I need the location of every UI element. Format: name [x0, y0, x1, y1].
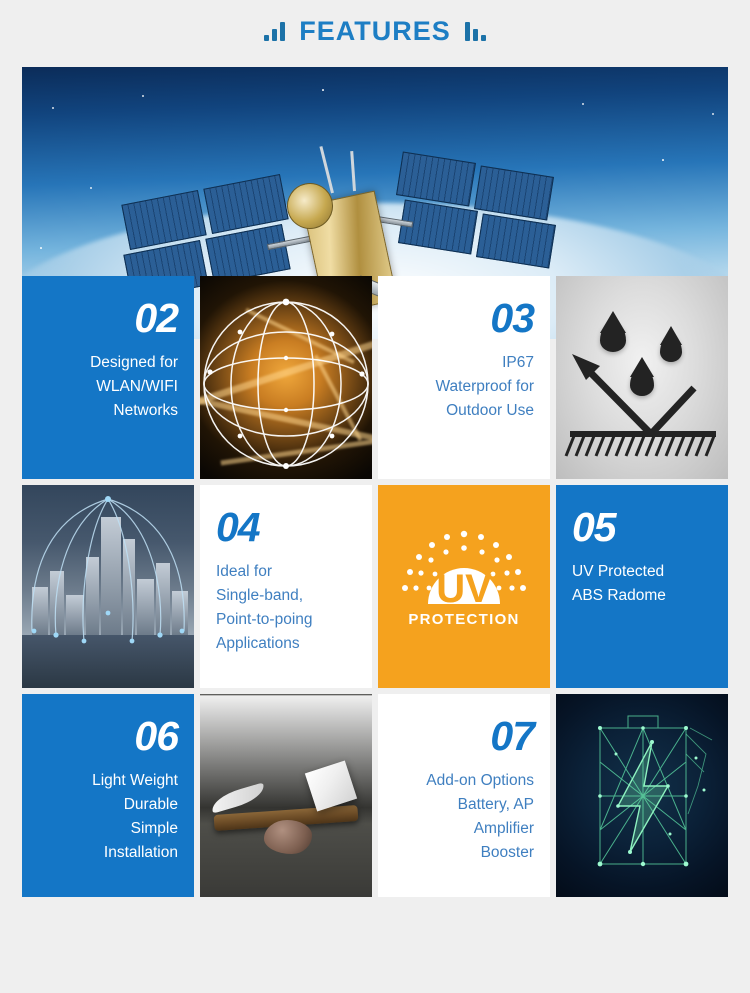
uv-label: UV — [436, 567, 492, 611]
feature-card-06[interactable]: 06 Light Weight Durable Simple Installat… — [22, 694, 194, 897]
feature-number: 03 — [490, 298, 534, 339]
antenna-box — [305, 760, 357, 811]
uv-protection-icon: UV PROTECTION — [389, 512, 539, 662]
feature-card-03[interactable]: 03 IP67 Waterproof for Outdoor Use — [378, 276, 550, 479]
feature-number: 05 — [572, 507, 616, 548]
feature-description: Add-on Options Battery, AP Amplifier Boo… — [426, 769, 534, 865]
network-globe-wireframe — [200, 276, 372, 479]
page-header: FEATURES — [0, 0, 750, 62]
feature-description: IP67 Waterproof for Outdoor Use — [436, 351, 535, 423]
bar-chart-descending-icon — [465, 21, 486, 41]
low-poly-battery-with-lightning-bolt-photo — [556, 694, 728, 897]
feature-number: 04 — [216, 507, 260, 548]
feature-description: Light Weight Durable Simple Installation — [92, 769, 178, 865]
night-city-with-network-globe-photo — [200, 276, 372, 479]
features-page: FEATURES — [0, 0, 750, 993]
feather — [209, 783, 267, 814]
rock-fulcrum — [264, 820, 312, 854]
antenna-and-feather-balance-on-log-photo — [200, 694, 372, 897]
city-skyline-with-wireless-network-arcs-photo — [22, 485, 194, 688]
balance-photo-card[interactable] — [200, 694, 372, 897]
repel-arrow-icon — [556, 276, 728, 479]
feature-card-07[interactable]: 07 Add-on Options Battery, AP Amplifier … — [378, 694, 550, 897]
feature-card-04[interactable]: 04 Ideal for Single-band, Point-to-poing… — [200, 485, 372, 688]
waterproof-icon-card[interactable] — [556, 276, 728, 479]
wireless-network-arcs — [22, 485, 194, 688]
feature-number: 06 — [134, 716, 178, 757]
feature-description: UV Protected ABS Radome — [572, 560, 666, 608]
feature-number: 07 — [490, 716, 534, 757]
features-grid: 01 23dBi High gain providing optimized p… — [22, 67, 728, 897]
waterproof-droplets-repel-icon — [556, 276, 728, 479]
battery-wireframe — [556, 694, 728, 897]
night-city-globe-photo-card[interactable] — [200, 276, 372, 479]
uv-protection-card[interactable]: UV PROTECTION — [378, 485, 550, 688]
protection-label: PROTECTION — [408, 611, 519, 628]
battery-photo-card[interactable] — [556, 694, 728, 897]
feature-card-05[interactable]: 05 UV Protected ABS Radome — [556, 485, 728, 688]
feature-description: Ideal for Single-band, Point-to-poing Ap… — [216, 560, 313, 656]
bar-chart-ascending-icon — [264, 21, 285, 41]
feature-description: Designed for WLAN/WIFI Networks — [90, 351, 178, 423]
page-title: FEATURES — [299, 16, 451, 47]
feature-card-02[interactable]: 02 Designed for WLAN/WIFI Networks — [22, 276, 194, 479]
city-network-photo-card[interactable] — [22, 485, 194, 688]
feature-number: 02 — [134, 298, 178, 339]
